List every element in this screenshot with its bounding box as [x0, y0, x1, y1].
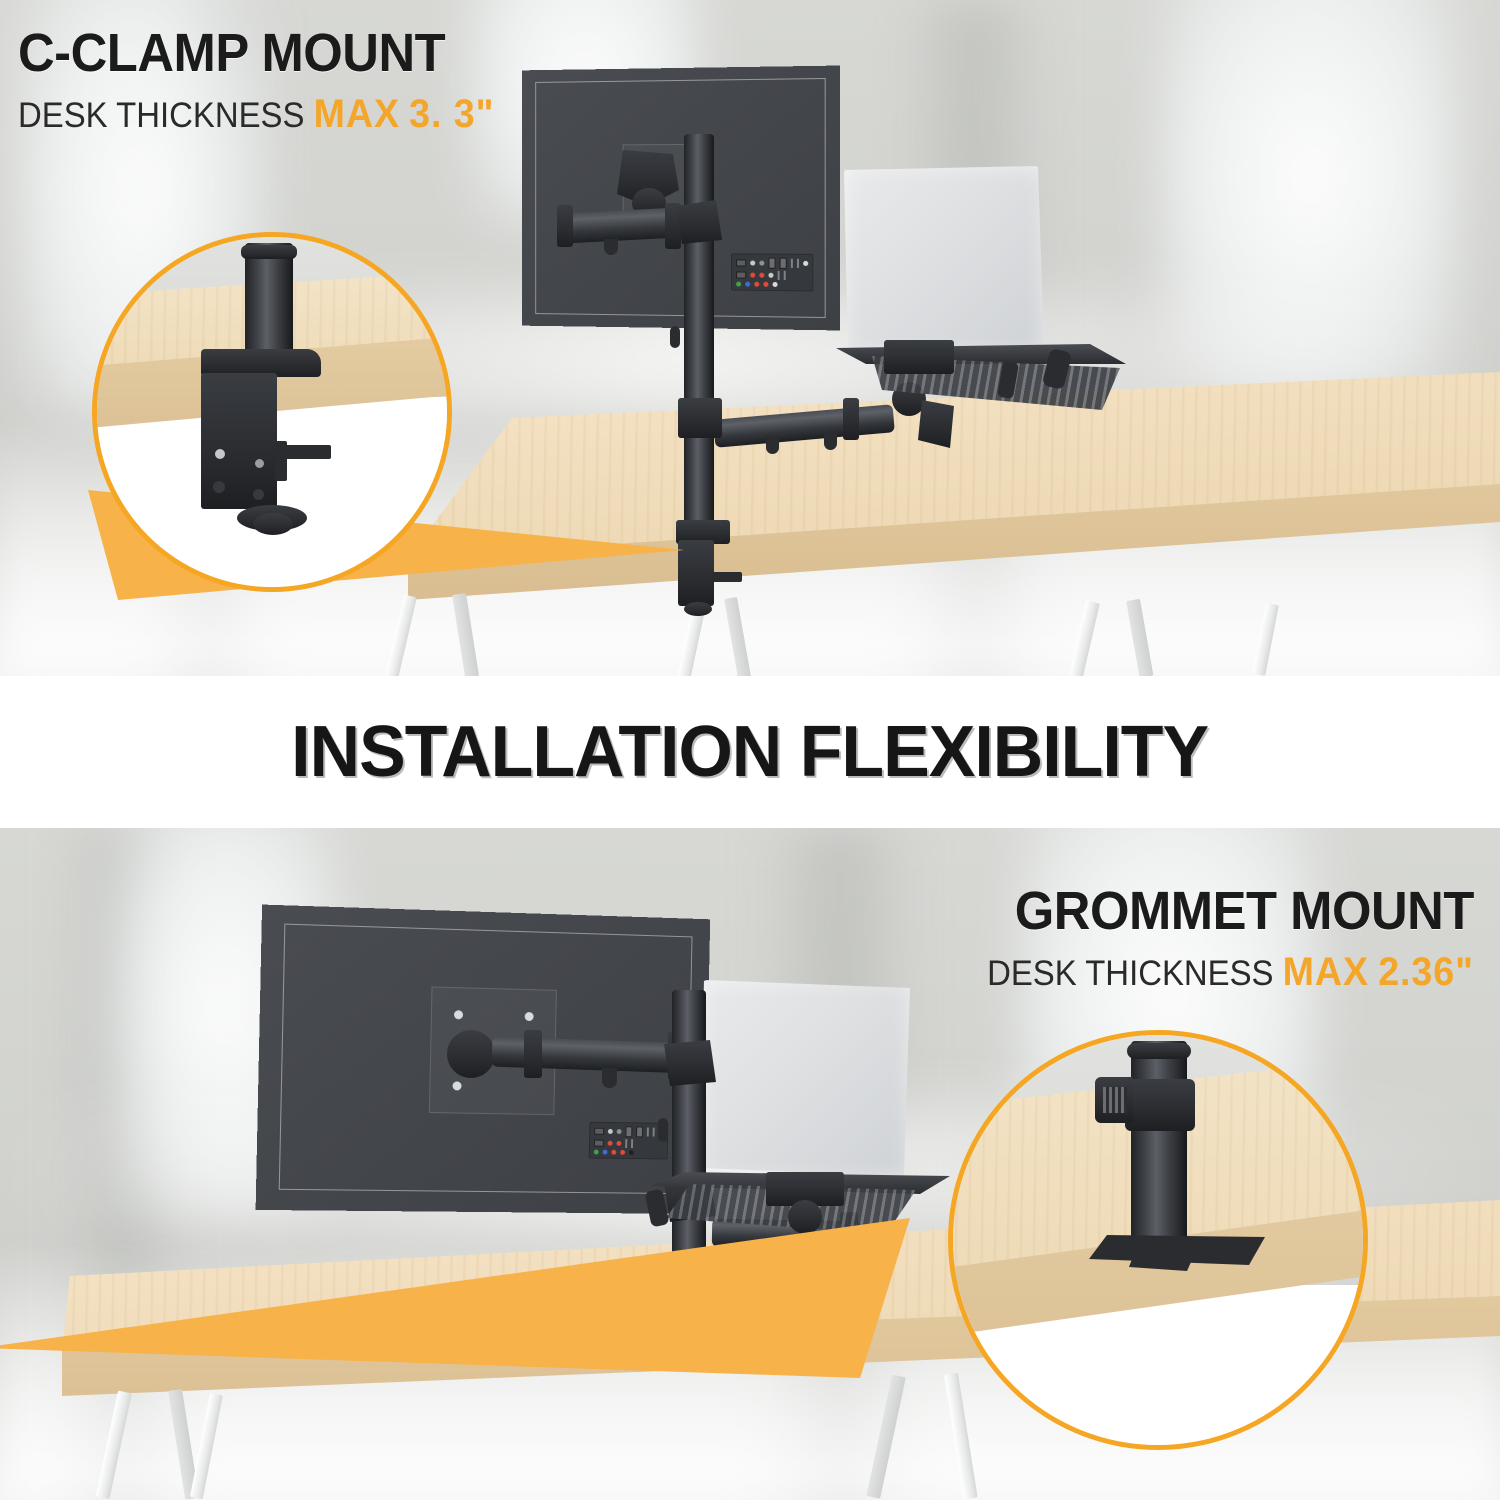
port-row: [594, 1126, 663, 1138]
audio-in-icon: [603, 1150, 608, 1155]
displayport-port-icon: [780, 258, 787, 269]
mic-icon: [763, 282, 768, 287]
thumb-screw-hub: [253, 513, 293, 535]
tray-vesa-plate: [918, 400, 954, 448]
audio-out-icon: [736, 282, 741, 287]
center-banner: INSTALLATION FLEXIBILITY: [0, 676, 1500, 828]
clamp-hole: [215, 449, 225, 459]
audio-jack-icon: [616, 1141, 621, 1146]
audio-jack-icon: [608, 1141, 613, 1146]
banner-title: INSTALLATION FLEXIBILITY: [292, 711, 1209, 793]
port-slot: [778, 271, 780, 280]
usb-port-icon: [736, 271, 746, 278]
port-dot: [768, 273, 773, 278]
bottom-heading-block: GROMMET MOUNT DESK THICKNESS MAX 2.36": [956, 884, 1474, 992]
cable-clip: [604, 239, 618, 255]
pole-adjust-knob: [658, 1118, 668, 1142]
bottom-subtitle-max-word: MAX: [1283, 950, 1369, 994]
power-icon: [803, 261, 808, 266]
top-subtitle-max-word: MAX: [314, 92, 400, 136]
usb-port-icon: [594, 1128, 604, 1135]
top-heading-title: C-CLAMP MOUNT: [18, 26, 494, 80]
port-dot: [773, 282, 778, 287]
tray-center-bracket: [884, 340, 954, 374]
indicator-dot: [750, 261, 755, 266]
bottom-heading-title: GROMMET MOUNT: [987, 884, 1474, 938]
usb-port-icon: [594, 1140, 604, 1147]
hdmi-port-icon: [625, 1126, 632, 1137]
top-subtitle-label: DESK THICKNESS: [18, 96, 304, 135]
port-row: [736, 282, 808, 288]
hdmi-port-icon: [768, 258, 775, 269]
vesa-screw: [452, 1081, 461, 1090]
port-row: [594, 1139, 663, 1149]
mic-icon: [620, 1150, 625, 1155]
cable-clip: [602, 1068, 617, 1088]
clamp-hole: [255, 459, 264, 468]
mic-icon: [754, 282, 759, 287]
audio-jack-icon: [750, 273, 755, 278]
pole-collar-upper: [676, 200, 722, 244]
top-heading-subtitle: DESK THICKNESS MAX 3. 3": [18, 94, 494, 134]
callout-content: [97, 237, 447, 587]
callout-circle-cclamp: [92, 232, 452, 592]
cable-clip: [766, 436, 779, 454]
port-slot: [647, 1128, 649, 1137]
port-row: [736, 257, 808, 269]
vesa-screw: [454, 1010, 463, 1019]
audio-in-icon: [745, 282, 750, 287]
cable-clip: [824, 432, 837, 450]
monitor-port-panel: [589, 1122, 669, 1160]
bottom-heading-subtitle: DESK THICKNESS MAX 2.36": [987, 952, 1474, 992]
audio-jack-icon: [759, 273, 764, 278]
arm-joint-cap: [843, 398, 859, 440]
callout-mount-post: [245, 243, 293, 359]
post-cap: [1127, 1043, 1191, 1059]
port-row: [594, 1150, 663, 1156]
port-dot: [629, 1150, 634, 1155]
port-slot: [784, 271, 786, 280]
bottom-subtitle-label: DESK THICKNESS: [987, 954, 1273, 993]
post-cap: [241, 245, 297, 259]
clamp-hole: [253, 489, 264, 500]
usb-port-icon: [736, 259, 746, 266]
callout-pointer-cone-bottom: [0, 1158, 980, 1398]
port-slot: [625, 1139, 627, 1148]
indicator-dot: [759, 261, 764, 266]
lever-knurl: [1103, 1087, 1127, 1113]
displayport-port-icon: [636, 1126, 643, 1137]
monitor-top: [522, 66, 840, 331]
clamp-hole: [213, 481, 225, 493]
post-collar-ring: [1125, 1079, 1195, 1131]
arm-joint-cap: [557, 205, 573, 247]
port-slot: [797, 259, 799, 268]
top-heading-block: C-CLAMP MOUNT DESK THICKNESS MAX 3. 3": [18, 26, 525, 134]
bottom-subtitle-value: 2.36": [1378, 950, 1474, 994]
indicator-dot: [617, 1129, 622, 1134]
laptop-bottom: [700, 980, 910, 1180]
callout-clamp-jaw-riser: [275, 441, 287, 481]
top-panel-cclamp: C-CLAMP MOUNT DESK THICKNESS MAX 3. 3": [0, 0, 1500, 676]
callout-circle-grommet: [948, 1030, 1368, 1450]
arm-joint-cap: [524, 1030, 542, 1078]
pole-collar-upper: [664, 1040, 716, 1086]
port-slot: [631, 1139, 633, 1148]
callout-grommet-post: [1131, 1041, 1187, 1253]
audio-out-icon: [594, 1150, 599, 1155]
callout-content: [953, 1035, 1363, 1445]
port-slot: [653, 1128, 655, 1137]
pole-adjust-knob: [670, 326, 680, 348]
indicator-dot: [608, 1129, 613, 1134]
top-subtitle-value: 3. 3": [409, 92, 494, 136]
vesa-screw: [525, 1012, 534, 1021]
bottom-panel-grommet: GROMMET MOUNT DESK THICKNESS MAX 2.36": [0, 828, 1500, 1500]
infographic-stage: C-CLAMP MOUNT DESK THICKNESS MAX 3. 3" I…: [0, 0, 1500, 1500]
monitor-port-panel: [731, 253, 813, 291]
port-row: [736, 270, 808, 280]
port-slot: [791, 259, 793, 268]
tilt-knuckle: [447, 1030, 495, 1078]
laptop-top: [844, 166, 1044, 356]
mic-icon: [611, 1150, 616, 1155]
